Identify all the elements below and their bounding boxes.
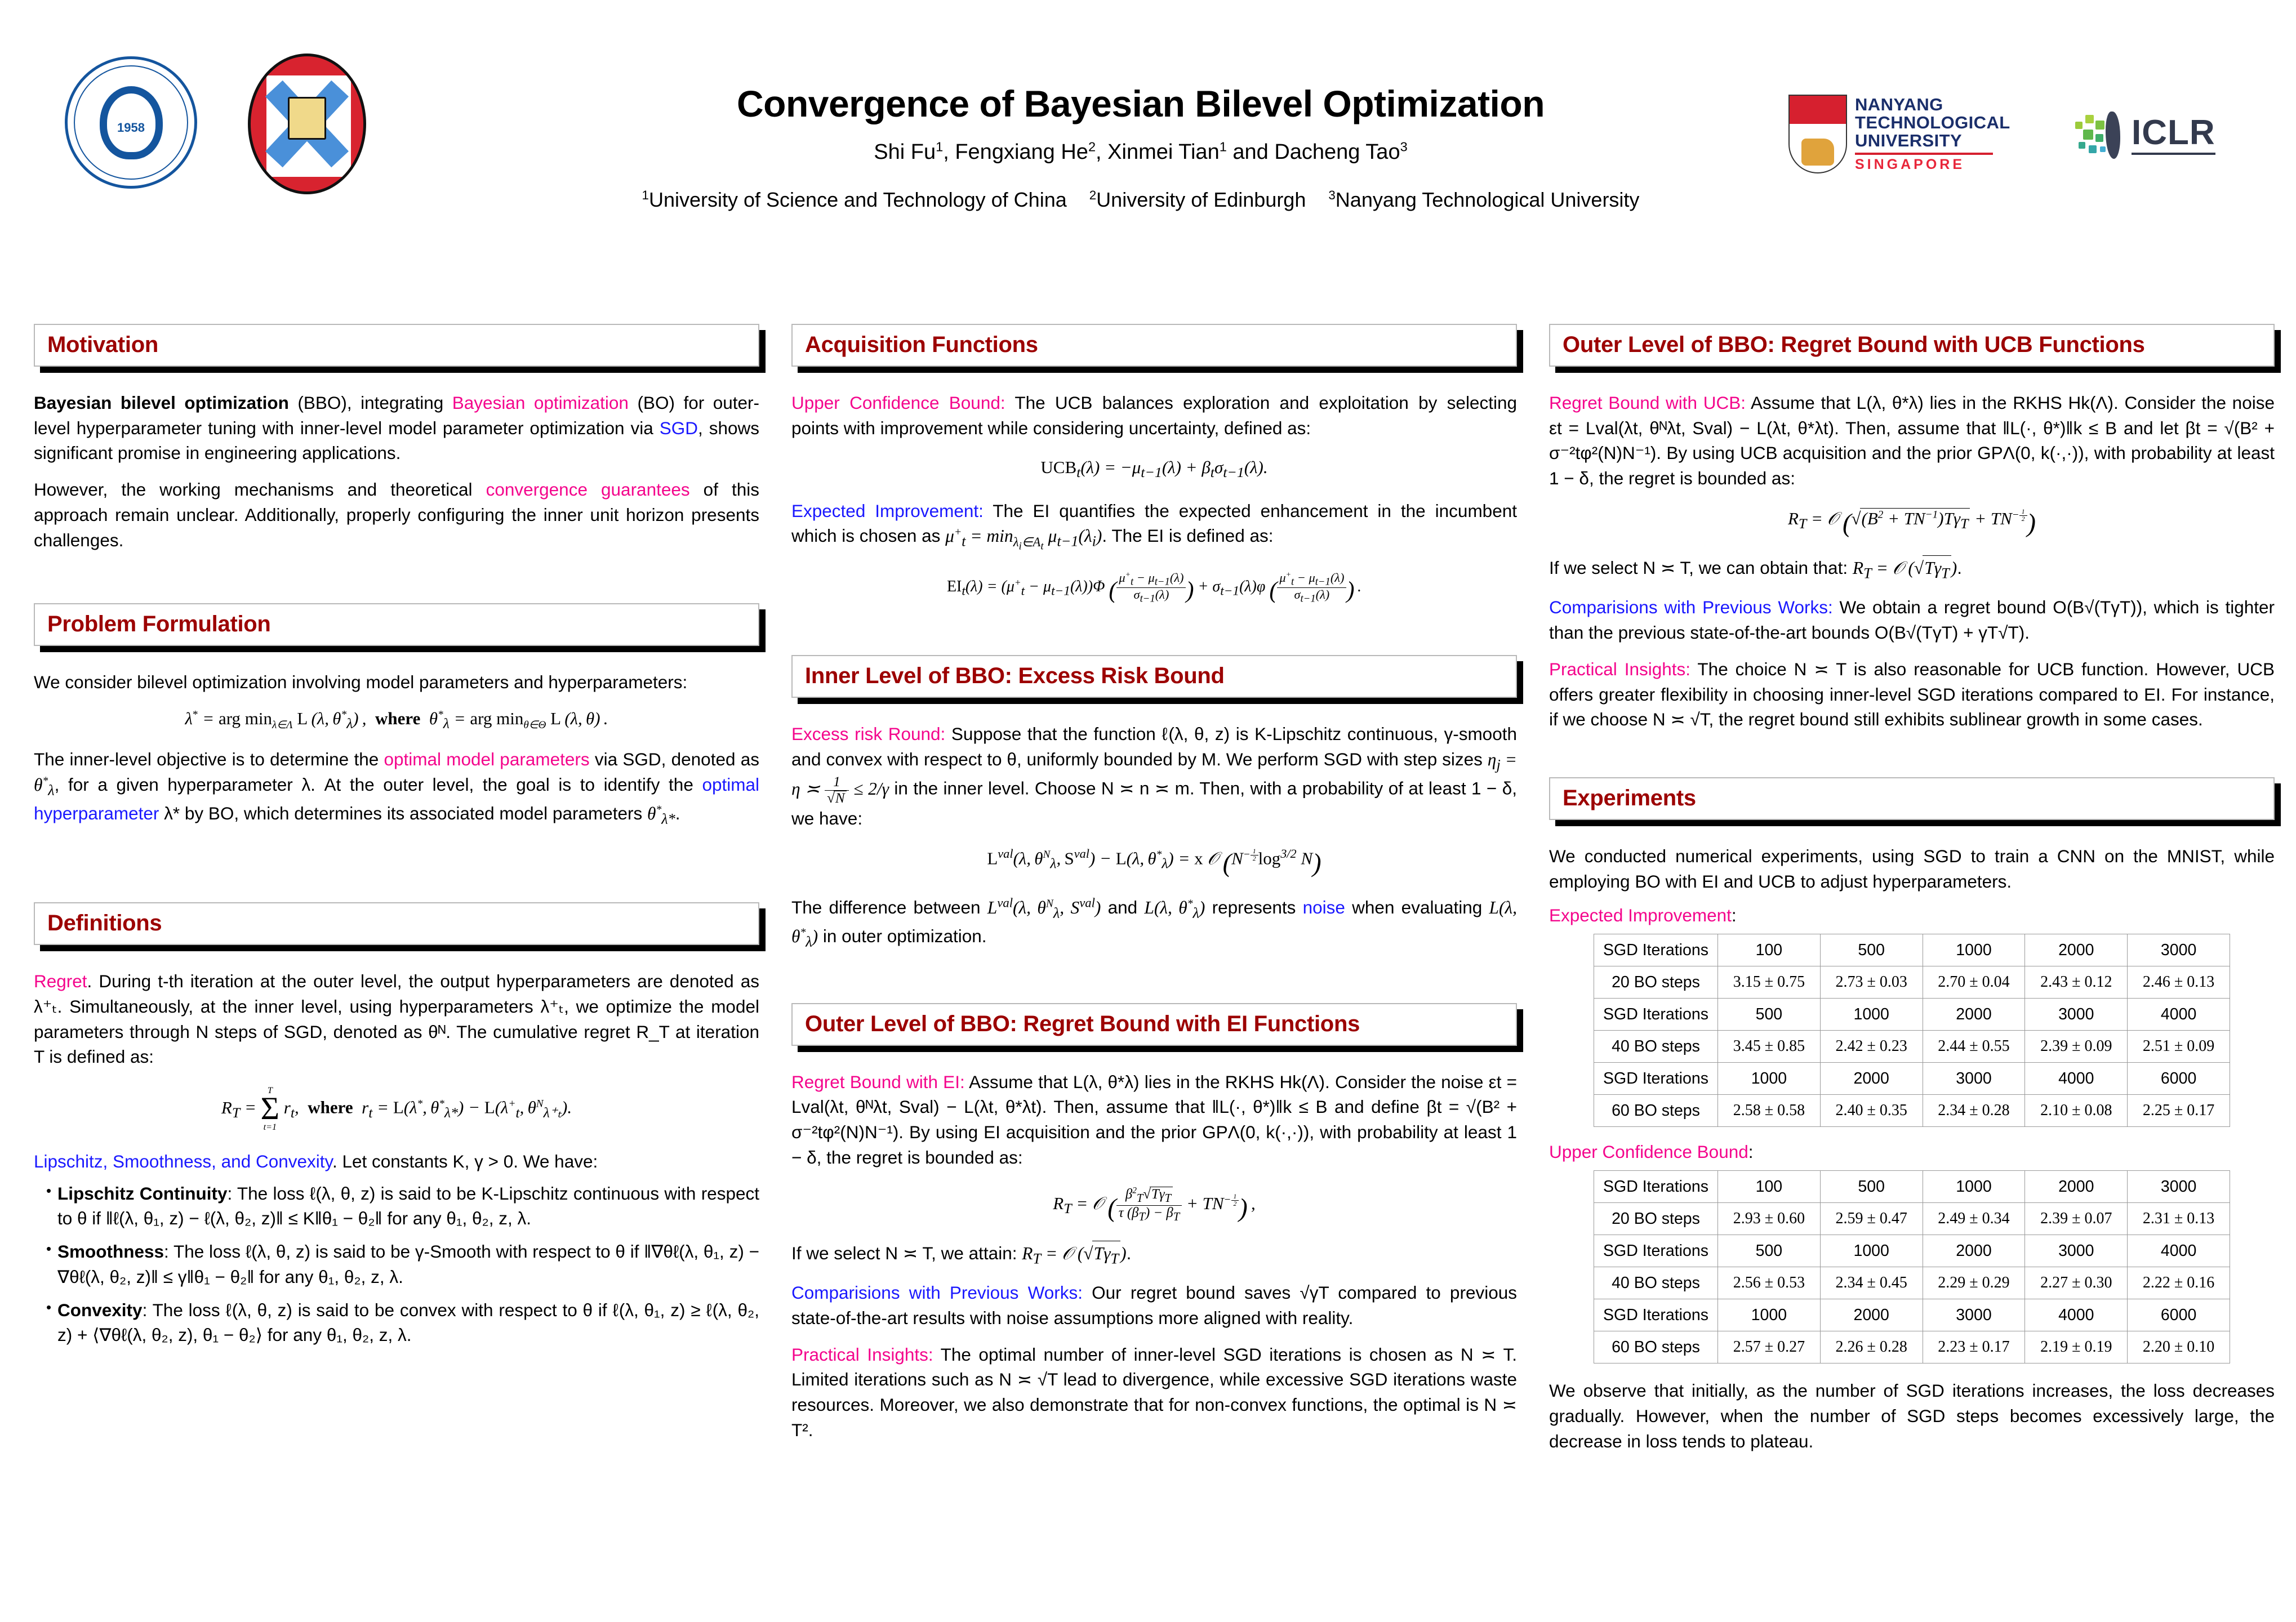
author-list: Shi Fu1, Fengxiang He2, Xinmei Tian1 and… (507, 140, 1774, 164)
table-row: SGD Iterations 1000 2000 3000 4000 6000 (1594, 1063, 2230, 1095)
acquisition-ucb-paragraph: Upper Confidence Bound: The UCB balances… (791, 390, 1517, 440)
outer-ei-paragraph: Regret Bound with EI: Assume that L(λ, θ… (791, 1070, 1517, 1170)
inner-noise-paragraph: The difference between Lval(λ, θNλ, Sval… (791, 895, 1517, 952)
outer-ucb-paragraph: Regret Bound with UCB: Assume that L(λ, … (1549, 390, 2275, 491)
section-header-definitions: Definitions (34, 902, 759, 945)
experiments-ei-label: Expected Improvement: (1549, 905, 2275, 926)
section-title: Experiments (1563, 786, 2261, 810)
outer-ucb-comparison: Comparisions with Previous Works: We obt… (1549, 595, 2275, 645)
title-block: Convergence of Bayesian Bilevel Optimiza… (507, 84, 1774, 212)
table-row: SGD Iterations 1000 2000 3000 4000 6000 (1594, 1299, 2230, 1331)
table-row: 60 BO steps 2.58 ± 0.58 2.40 ± 0.35 2.34… (1594, 1095, 2230, 1127)
outer-ei-comparison: Comparisions with Previous Works: Our re… (791, 1280, 1517, 1330)
section-title: Acquisition Functions (805, 333, 1503, 357)
equation-excess-risk: Lval(λ, θNλ, Sval) − L(λ, θ*λ) = x 𝒪 (N−… (791, 848, 1517, 878)
table-row: 60 BO steps 2.57 ± 0.27 2.26 ± 0.28 2.23… (1594, 1331, 2230, 1363)
results-table-upper-confidence-bound: SGD Iterations 100 500 1000 2000 3000 20… (1594, 1170, 2230, 1363)
results-table-expected-improvement: SGD Iterations 100 500 1000 2000 3000 20… (1594, 934, 2230, 1127)
experiments-conclusion: We observe that initially, as the number… (1549, 1378, 2275, 1454)
table-row: 20 BO steps 2.93 ± 0.60 2.59 ± 0.47 2.49… (1594, 1203, 2230, 1235)
table-row: SGD Iterations 500 1000 2000 3000 4000 (1594, 1235, 2230, 1267)
outer-ucb-insights: Practical Insights: The choice N ≍ T is … (1549, 657, 2275, 732)
motivation-paragraph-2: However, the working mechanisms and theo… (34, 477, 759, 552)
section-header-acquisition-functions: Acquisition Functions (791, 324, 1517, 367)
table-row: 40 BO steps 2.56 ± 0.53 2.34 ± 0.45 2.29… (1594, 1267, 2230, 1299)
equation-ucb: UCBt(λ) = −μt−1(λ) + βtσt−1(λ). (791, 457, 1517, 481)
ustc-logo: 1958 (65, 56, 197, 189)
ntu-logo-line1: NANYANG (1855, 96, 2010, 114)
table-row: SGD Iterations 100 500 1000 2000 3000 (1594, 1171, 2230, 1203)
section-header-outer-ucb: Outer Level of BBO: Regret Bound with UC… (1549, 324, 2275, 367)
outer-ei-select: If we select N ≍ T, we attain: RT = 𝒪 (√… (791, 1241, 1517, 1269)
definition-bullet-list: Lipschitz Continuity: The loss ℓ(λ, θ, z… (34, 1181, 759, 1348)
table-row: SGD Iterations 500 1000 2000 3000 4000 (1594, 999, 2230, 1031)
poster-header: 1958 Convergence of Bayesian Bilevel Opt… (0, 0, 2296, 265)
motivation-paragraph-1: Bayesian bilevel optimization (BBO), int… (34, 390, 759, 466)
acquisition-ei-paragraph: Expected Improvement: The EI quantifies … (791, 498, 1517, 554)
section-header-experiments: Experiments (1549, 777, 2275, 820)
ntu-logo-line2: TECHNOLOGICAL (1855, 114, 2010, 132)
list-item: Smoothness: The loss ℓ(λ, θ, z) is said … (48, 1239, 759, 1289)
iclr-mark-icon (2073, 109, 2125, 161)
inner-excess-risk-paragraph: Excess risk Round: Suppose that the func… (791, 721, 1517, 831)
outer-ei-insights: Practical Insights: The optimal number o… (791, 1342, 1517, 1443)
outer-ucb-select: If we select N ≍ T, we can obtain that: … (1549, 555, 2275, 584)
table-row: SGD Iterations 100 500 1000 2000 3000 (1594, 934, 2230, 966)
section-title: Definitions (47, 911, 746, 935)
section-title: Inner Level of BBO: Excess Risk Bound (805, 664, 1503, 688)
equation-regret-ucb: RT = 𝒪 (√(B2 + TN−1)TγT + TN−12) (1549, 508, 2275, 538)
experiments-intro: We conducted numerical experiments, usin… (1549, 844, 2275, 894)
section-header-problem-formulation: Problem Formulation (34, 603, 759, 646)
problem-intro: We consider bilevel optimization involvi… (34, 670, 759, 695)
university-of-edinburgh-logo (248, 54, 380, 194)
section-header-motivation: Motivation (34, 324, 759, 367)
page-title: Convergence of Bayesian Bilevel Optimiza… (507, 84, 1774, 123)
ntu-logo-line3: UNIVERSITY (1855, 132, 2010, 150)
section-title: Outer Level of BBO: Regret Bound with UC… (1563, 333, 2261, 357)
section-title: Problem Formulation (47, 612, 746, 636)
equation-cumulative-regret: RT = TΣt=1 rt, where rt = L(λ*, θ*λ*) − … (34, 1086, 759, 1132)
ustc-logo-year: 1958 (117, 121, 145, 135)
definition-lsc: Lipschitz, Smoothness, and Convexity. Le… (34, 1149, 759, 1174)
problem-explanation: The inner-level objective is to determin… (34, 747, 759, 829)
section-header-outer-ei: Outer Level of BBO: Regret Bound with EI… (791, 1003, 1517, 1046)
ntu-logo: NANYANG TECHNOLOGICAL UNIVERSITY SINGAPO… (1788, 93, 2042, 175)
list-item: Lipschitz Continuity: The loss ℓ(λ, θ, z… (48, 1181, 759, 1231)
section-header-inner-level: Inner Level of BBO: Excess Risk Bound (791, 655, 1517, 698)
table-row: 20 BO steps 3.15 ± 0.75 2.73 ± 0.03 2.70… (1594, 966, 2230, 999)
affiliation-list: 1University of Science and Technology of… (507, 188, 1774, 212)
experiments-ucb-label: Upper Confidence Bound: (1549, 1142, 2275, 1162)
ntu-logo-line4: SINGAPORE (1855, 157, 2010, 172)
table-row: 40 BO steps 3.45 ± 0.85 2.42 ± 0.23 2.44… (1594, 1031, 2230, 1063)
iclr-logo: ICLR (2073, 101, 2259, 169)
definition-regret: Regret. During t-th iteration at the out… (34, 969, 759, 1070)
poster-columns: Motivation Bayesian bilevel optimization… (0, 324, 2296, 1465)
equation-regret-ei: RT = 𝒪 (β2T√TγTτ (βT) − βT + TN−12) , (791, 1187, 1517, 1223)
section-title: Outer Level of BBO: Regret Bound with EI… (805, 1012, 1503, 1036)
equation-ei: EIt(λ) = (μ+t − μt−1(λ))Φ (μ+t − μt−1(λ)… (791, 571, 1517, 604)
list-item: Convexity: The loss ℓ(λ, θ, z) is said t… (48, 1298, 759, 1348)
column-left: Motivation Bayesian bilevel optimization… (34, 324, 759, 1465)
iclr-logo-word: ICLR (2132, 115, 2215, 155)
column-right: Outer Level of BBO: Regret Bound with UC… (1549, 324, 2275, 1465)
equation-bilevel: λ* = arg minλ∈Λ L (λ, θ*λ) , where θ*λ =… (34, 708, 759, 732)
column-middle: Acquisition Functions Upper Confidence B… (791, 324, 1517, 1465)
section-title: Motivation (47, 333, 746, 357)
